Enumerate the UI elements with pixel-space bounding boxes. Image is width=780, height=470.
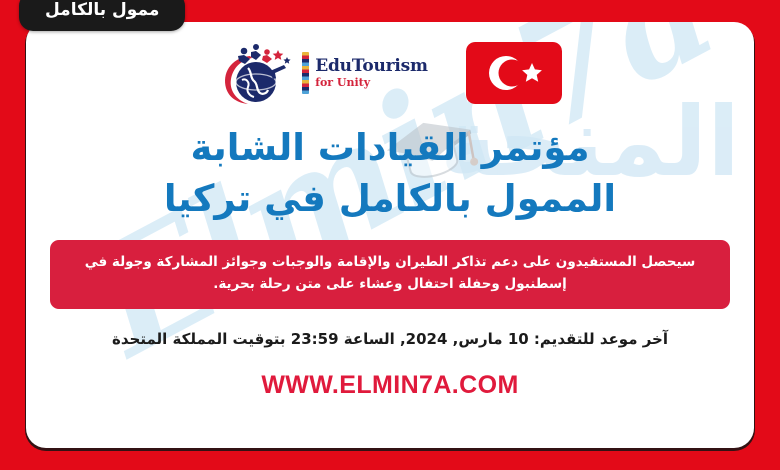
- headline-line-1: مؤتمر القيادات الشابة: [56, 122, 724, 173]
- brand-logo: EduTourism for Unity: [218, 40, 428, 106]
- header-logos: EduTourism for Unity: [26, 22, 754, 108]
- benefits-banner: سيحصل المستفيدون على دعم تذاكر الطيران و…: [50, 240, 730, 309]
- website-url[interactable]: WWW.ELMIN7A.COM: [26, 371, 754, 400]
- brand-wordmark: EduTourism for Unity: [315, 58, 428, 88]
- brand-name: EduTourism: [315, 58, 428, 75]
- turkey-flag-icon: [466, 42, 562, 104]
- poster-root: المنحة Elmin7a: [0, 0, 780, 470]
- page-title: مؤتمر القيادات الشابة الممول بالكامل في …: [56, 122, 724, 224]
- brand-tagline: for Unity: [315, 77, 428, 88]
- globe-people-logo-icon: [218, 40, 296, 106]
- filmstrip-divider-icon: [302, 52, 309, 94]
- deadline-text: آخر موعد للتقديم: 10 مارس, 2024, الساعة …: [56, 329, 724, 350]
- headline-line-2: الممول بالكامل في تركيا: [56, 173, 724, 224]
- announcement-card: المنحة Elmin7a: [26, 22, 754, 448]
- status-badge: ممول بالكامل: [19, 0, 185, 31]
